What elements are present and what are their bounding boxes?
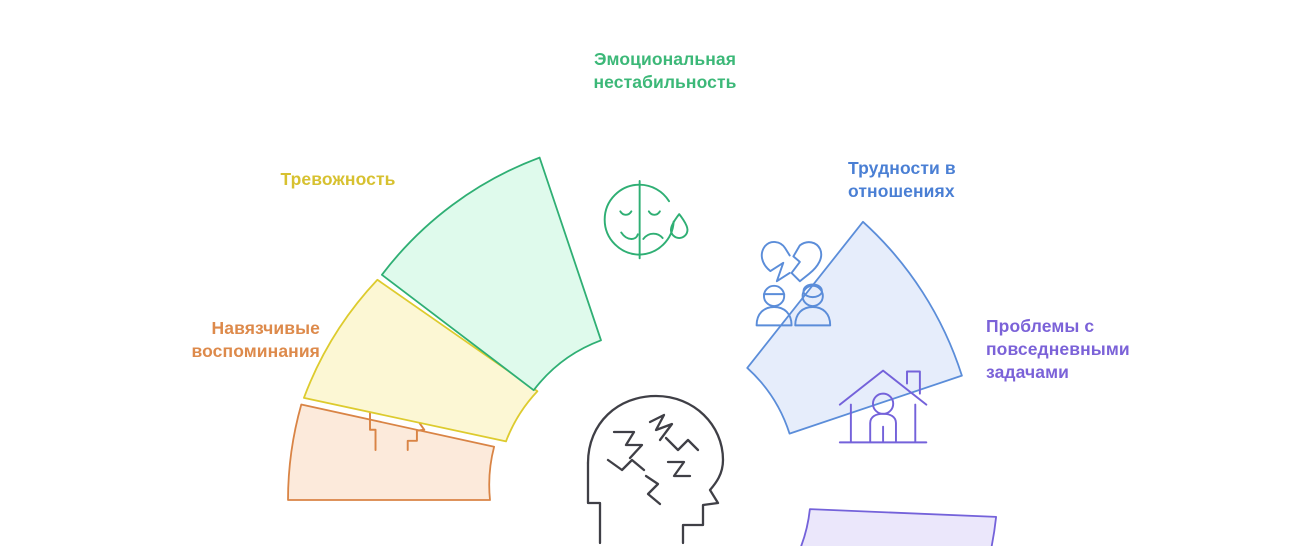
label-anxiety: Тревожность [238,168,438,191]
label-emotional-instability: Эмоциональная нестабильность [540,48,790,94]
label-intrusive-memories: Навязчивые воспоминания [120,317,320,363]
segment-relationship-difficulties-shape[interactable] [714,217,976,477]
segment-relationship-difficulties[interactable] [714,217,976,477]
segment-daily-task-problems-shape[interactable] [765,460,1003,546]
head-with-chaotic-thoughts-icon [588,396,723,543]
split-face-happy-sad-icon [605,181,688,258]
label-relationship-difficulties: Трудности в отношениях [848,157,1063,203]
label-daily-task-problems: Проблемы с повседневными задачами [986,315,1216,384]
infographic-canvas: Эмоциональная нестабильность Тревожность… [0,0,1300,546]
